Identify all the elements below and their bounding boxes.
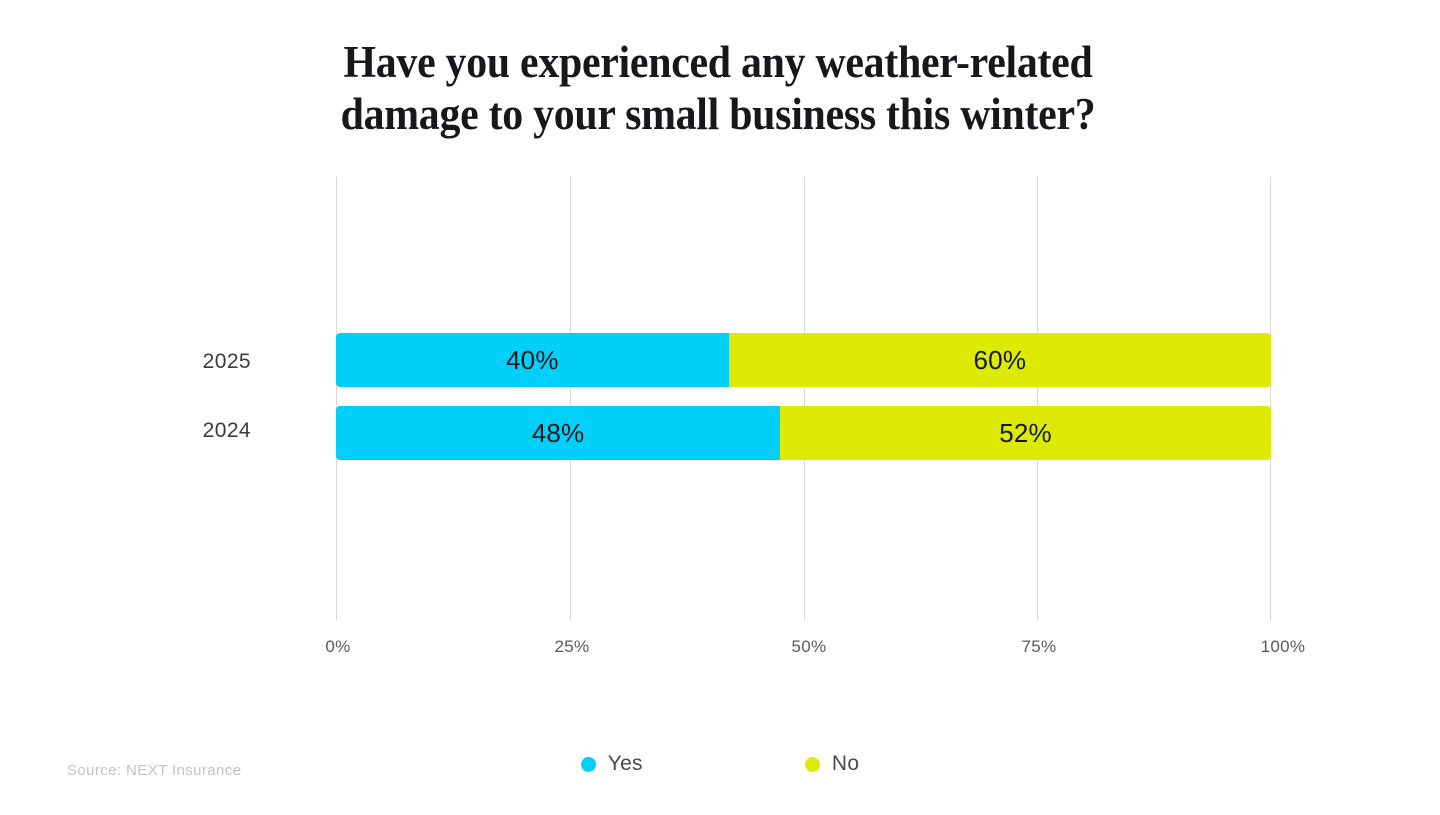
legend-label-yes: Yes <box>608 752 643 776</box>
source-attribution: Source: NEXT Insurance <box>67 762 241 779</box>
xtick-label-25: 25% <box>512 637 632 657</box>
chart-title-line-1: Have you experienced any weather-related <box>253 36 1183 88</box>
bar-value-2024-yes: 48% <box>532 418 585 449</box>
chart-title-line-2: damage to your small business this winte… <box>253 88 1183 140</box>
chart-container: Have you experienced any weather-related… <box>0 0 1440 815</box>
category-label-2024: 2024 <box>131 419 251 443</box>
legend-swatch-yes-icon <box>581 757 596 772</box>
bar-value-2025-no: 60% <box>974 345 1027 376</box>
gridline-25 <box>570 177 571 621</box>
xtick-label-100: 100% <box>1223 637 1343 657</box>
plot-area: 40% 60% 48% 52% <box>336 177 1271 621</box>
chart-title: Have you experienced any weather-related… <box>253 36 1183 140</box>
bar-row-2024: 48% 52% <box>336 406 1271 460</box>
bar-segment-2025-yes: 40% <box>336 333 729 387</box>
xtick-label-75: 75% <box>979 637 1099 657</box>
gridline-0 <box>336 177 337 621</box>
xtick-label-0: 0% <box>278 637 398 657</box>
legend-item-no[interactable]: No <box>805 752 859 776</box>
gridline-100 <box>1270 177 1271 621</box>
category-label-2025: 2025 <box>131 350 251 374</box>
bar-row-2025: 40% 60% <box>336 333 1271 387</box>
gridline-50 <box>804 177 805 621</box>
bar-segment-2025-no: 60% <box>729 333 1271 387</box>
bar-value-2025-yes: 40% <box>506 345 559 376</box>
bar-value-2024-no: 52% <box>999 418 1052 449</box>
bar-segment-2024-yes: 48% <box>336 406 780 460</box>
legend-item-yes[interactable]: Yes <box>581 752 643 776</box>
legend-label-no: No <box>832 752 859 776</box>
bar-segment-2024-no: 52% <box>780 406 1271 460</box>
xtick-label-50: 50% <box>749 637 869 657</box>
gridline-75 <box>1037 177 1038 621</box>
legend-swatch-no-icon <box>805 757 820 772</box>
